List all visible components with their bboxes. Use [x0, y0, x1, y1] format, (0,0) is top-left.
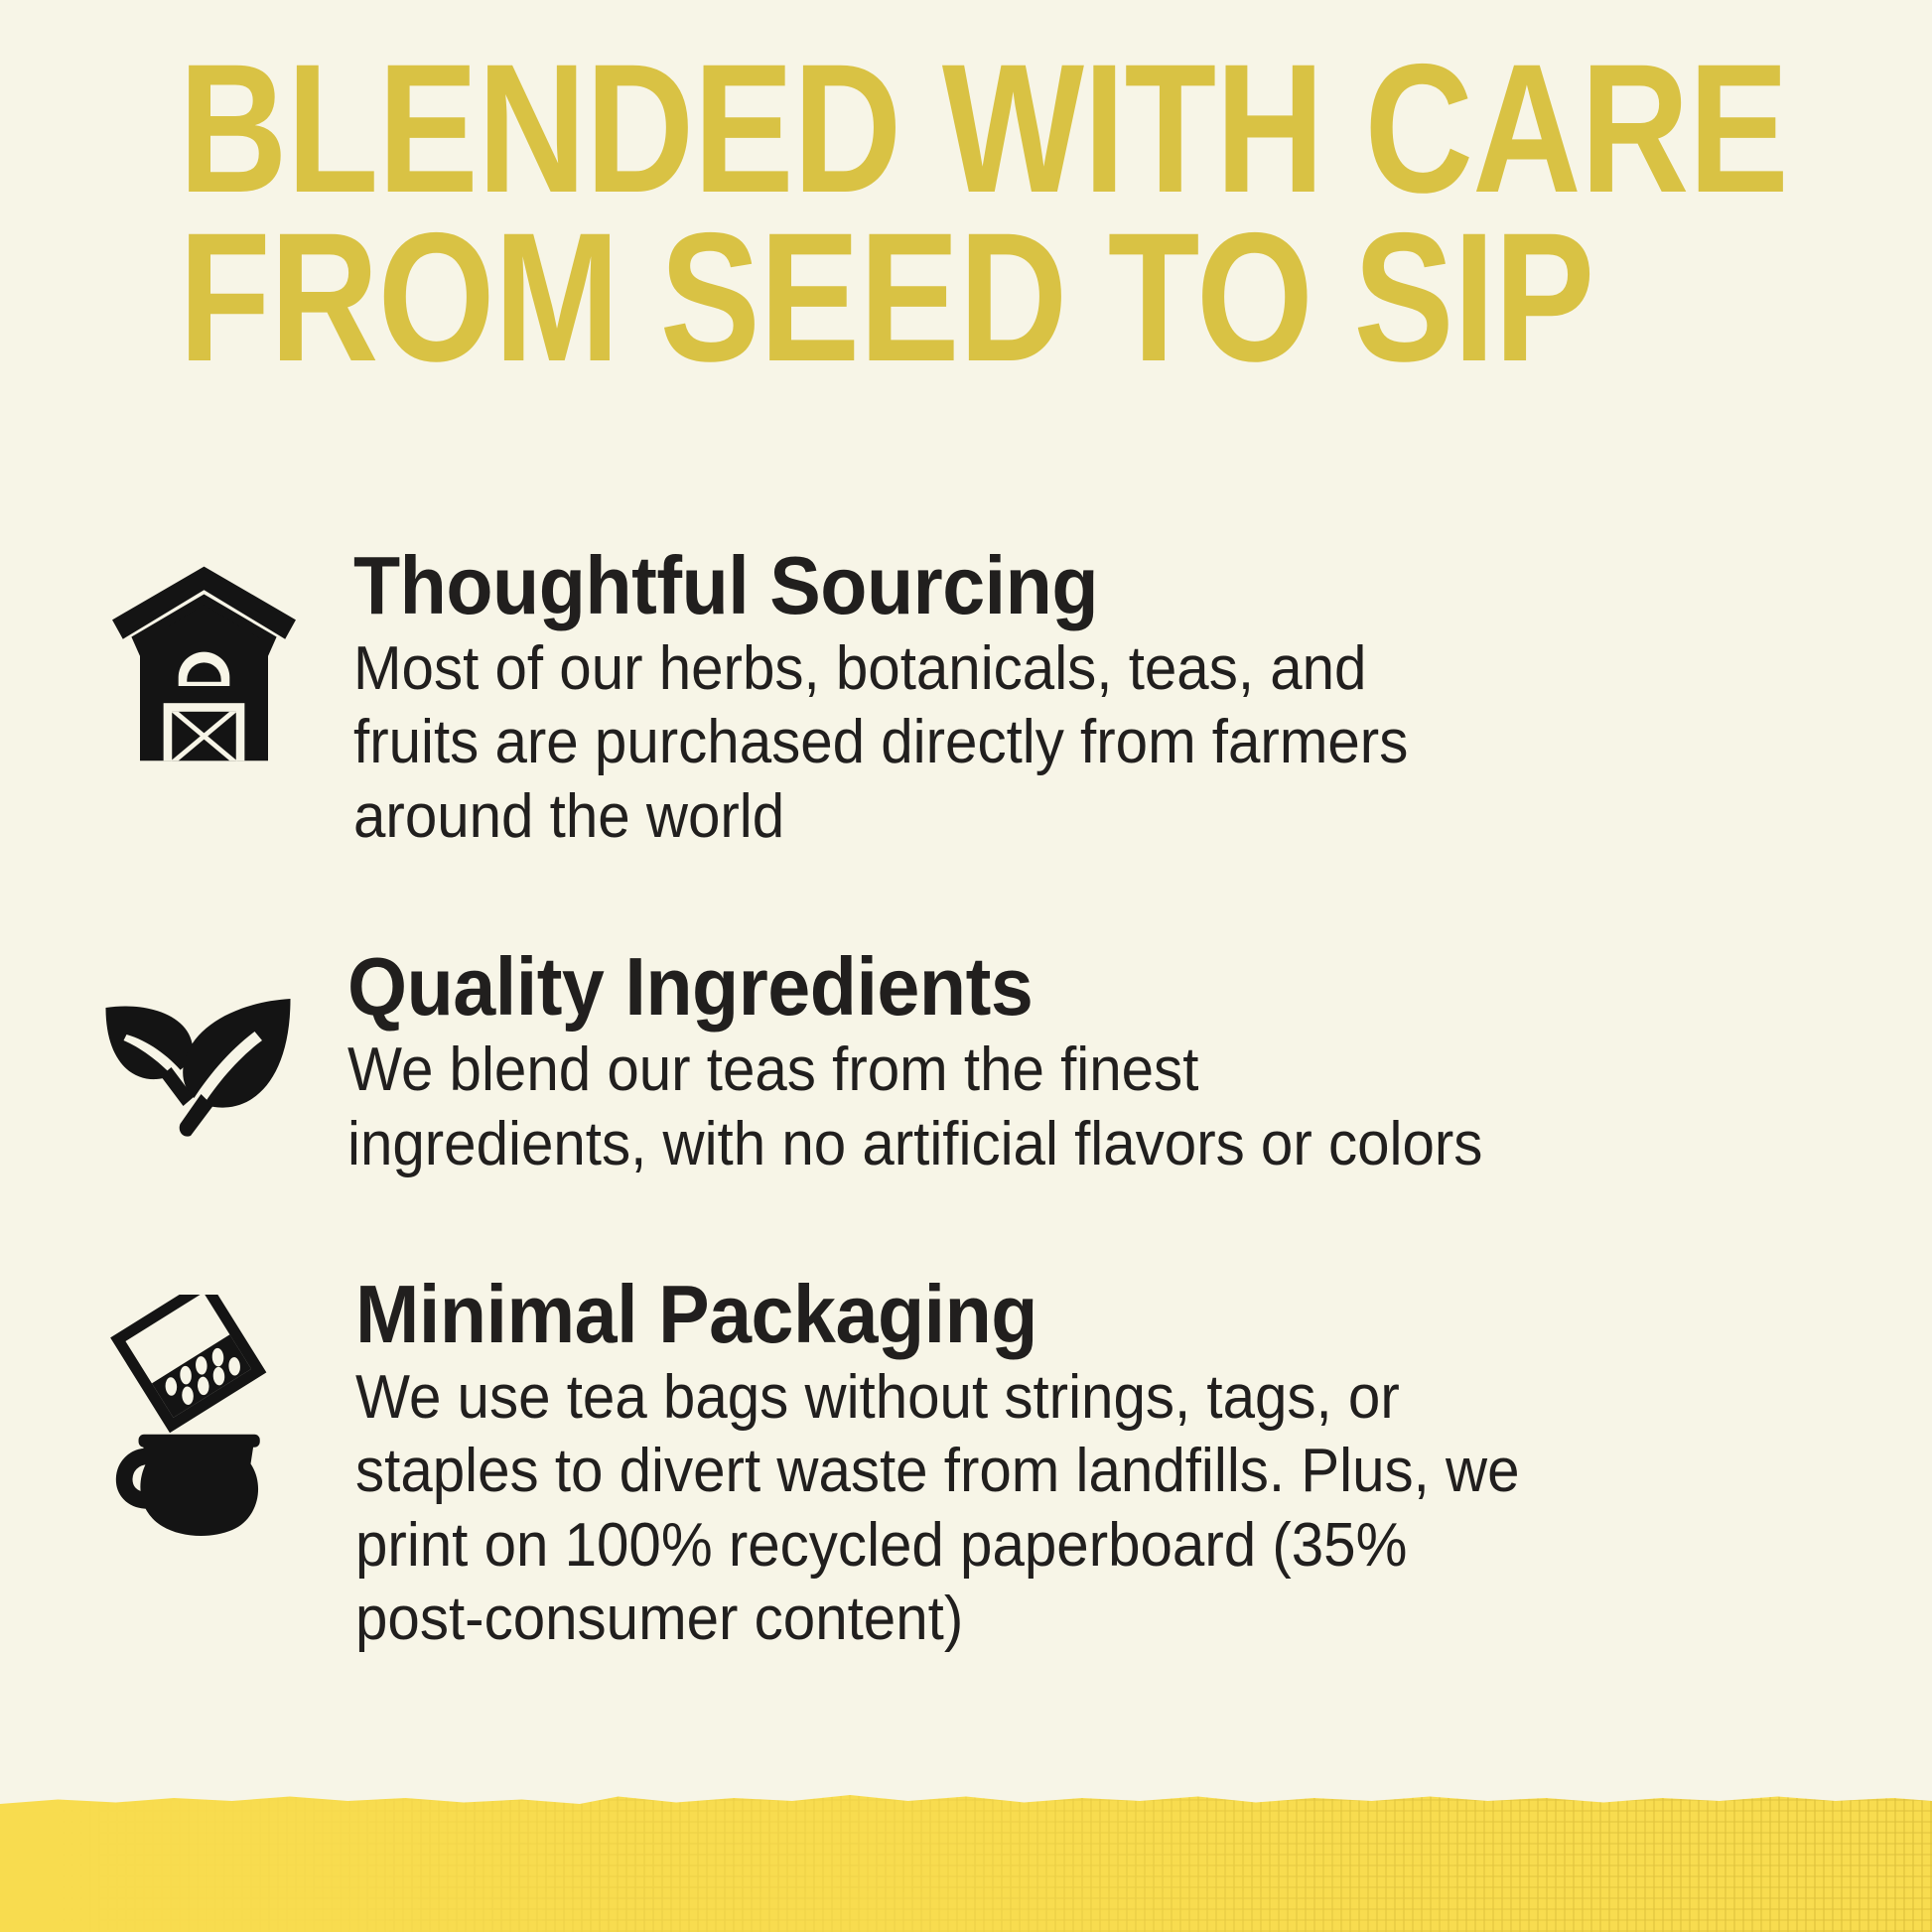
band-texture-overlay — [0, 1783, 1932, 1932]
bottom-yellow-band — [0, 1783, 1932, 1932]
headline-line-1: BLENDED WITH CARE — [179, 58, 1497, 201]
promotional-poster: BLENDED WITH CARE FROM SEED TO SIP — [0, 0, 1932, 1932]
feature-body-line: fruits are purchased directly from farme… — [353, 706, 1594, 779]
feature-item-thoughtful-sourcing: Thoughtful Sourcing Most of our herbs, b… — [89, 544, 1866, 854]
feature-body-line: We blend our teas from the finest — [347, 1034, 1588, 1107]
feature-text-wrapper: Quality Ingredients We blend our teas fr… — [347, 945, 1668, 1181]
feature-body: Most of our herbs, botanicals, teas, and… — [353, 632, 1594, 854]
feature-text-wrapper: Thoughtful Sourcing Most of our herbs, b… — [353, 544, 1674, 854]
feature-body-line: print on 100% recycled paperboard (35% — [355, 1509, 1596, 1583]
feature-icon-wrapper — [89, 1273, 355, 1543]
feature-body-line: staples to divert waste from landfills. … — [355, 1435, 1596, 1508]
feature-item-quality-ingredients: Quality Ingredients We blend our teas fr… — [89, 945, 1866, 1181]
feature-body-line: We use tea bags without strings, tags, o… — [355, 1361, 1596, 1435]
feature-title: Quality Ingredients — [347, 945, 1576, 1028]
feature-item-minimal-packaging: Minimal Packaging We use tea bags withou… — [89, 1273, 1866, 1657]
barn-icon — [97, 558, 311, 771]
poster-headline: BLENDED WITH CARE FROM SEED TO SIP — [179, 58, 1787, 396]
feature-text-wrapper: Minimal Packaging We use tea bags withou… — [355, 1273, 1676, 1657]
feature-list: Thoughtful Sourcing Most of our herbs, b… — [89, 544, 1866, 1657]
headline-line-2: FROM SEED TO SIP — [179, 226, 1497, 369]
feature-icon-wrapper — [89, 945, 347, 1142]
feature-title: Minimal Packaging — [355, 1273, 1584, 1355]
leaves-icon — [91, 993, 305, 1142]
feature-body-line: Most of our herbs, botanicals, teas, and — [353, 632, 1594, 706]
feature-body: We use tea bags without strings, tags, o… — [355, 1361, 1596, 1657]
feature-body-line: post-consumer content) — [355, 1583, 1596, 1656]
feature-icon-wrapper — [89, 544, 353, 771]
feature-body-line: around the world — [353, 780, 1594, 854]
feature-body-line: ingredients, with no artificial flavors … — [347, 1108, 1588, 1181]
feature-title: Thoughtful Sourcing — [353, 544, 1582, 626]
teabag-cup-icon — [99, 1295, 303, 1543]
feature-body: We blend our teas from the finest ingred… — [347, 1034, 1588, 1181]
